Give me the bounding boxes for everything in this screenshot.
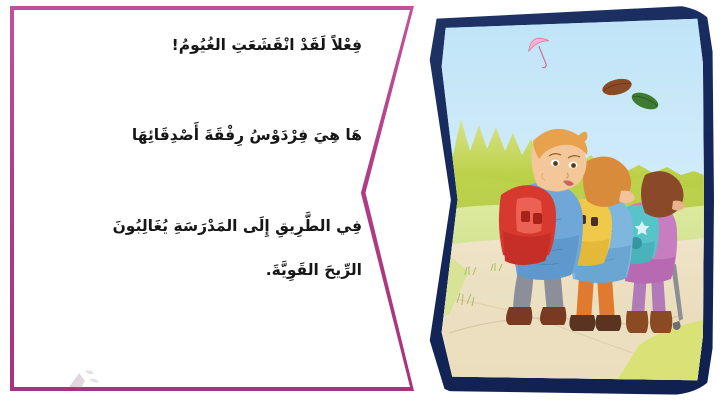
scene-illustration xyxy=(439,15,704,384)
illustration-viewport xyxy=(439,15,704,384)
shoe-left xyxy=(569,315,595,331)
text-line-4: الرِّيحَ القَوِيَّةَ. xyxy=(32,261,362,279)
boot-right xyxy=(650,311,672,333)
pants xyxy=(576,277,594,321)
text-line-2: هَا هِيَ فِرْدَوْسُ رِفْقَةَ أَصْدِقَائِ… xyxy=(32,126,362,144)
text-line-3: فِي الطَّرِيقِ إِلَى المَدْرَسَةِ يُغَال… xyxy=(32,217,362,235)
shoe-right xyxy=(595,315,621,331)
text-line-1: فِعْلاً لَقَدْ انْقَشَعَتِ الغُيُومُ! xyxy=(32,36,362,54)
arabic-text-block: فِعْلاً لَقَدْ انْقَشَعَتِ الغُيُومُ! هَ… xyxy=(32,20,362,279)
eye-left xyxy=(553,161,558,166)
boot-left xyxy=(626,311,648,333)
illustration-frame xyxy=(428,5,714,395)
shoe-left xyxy=(506,307,532,325)
text-panel: فِعْلاً لَقَدْ انْقَشَعَتِ الغُيُومُ! هَ… xyxy=(10,6,414,391)
page-root: فِعْلاً لَقَدْ انْقَشَعَتِ الغُيُومُ! هَ… xyxy=(0,0,720,405)
eye-right xyxy=(571,163,576,168)
